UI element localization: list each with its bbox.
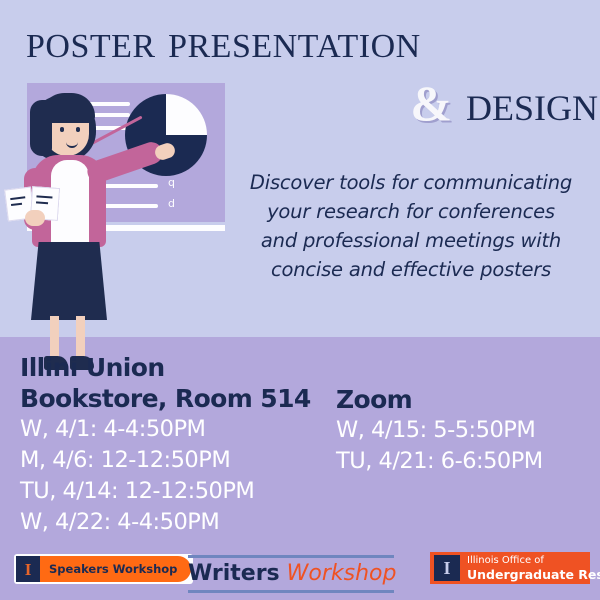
writers-word: Writers [188, 561, 280, 586]
venue-column-illini-union: Illini Union Bookstore, Room 514 W, 4/1:… [20, 352, 340, 538]
eyebrow-left [58, 120, 67, 122]
illinois-block-i-icon: I [16, 556, 40, 582]
writers-workshop-rule-bottom [188, 590, 394, 593]
venue-a-session-3: TU, 4/14: 12-12:50PM [20, 476, 340, 507]
block-i-glyph: I [25, 561, 32, 578]
venue-b-session-2: TU, 4/21: 6-6:50PM [336, 446, 600, 477]
venue-column-zoom: Zoom W, 4/15: 5-5:50PM TU, 4/21: 6-6:50P… [336, 384, 600, 477]
speakers-workshop-logo: I Speakers Workshop [14, 554, 193, 584]
speakers-workshop-label: Speakers Workshop [40, 556, 191, 582]
undergraduate-research-logo: I Illinois Office of Undergraduate Resea… [430, 552, 590, 584]
iour-line-2: Undergraduate Research [467, 569, 600, 581]
poster-canvas: Poster Presentation &Design Discover too… [0, 0, 600, 600]
block-i-glyph-2: I [443, 559, 450, 577]
eye-left [60, 127, 64, 132]
venue-a-session-1: W, 4/1: 4-4:50PM [20, 414, 340, 445]
undergraduate-research-label: Illinois Office of Undergraduate Researc… [467, 555, 600, 581]
eye-right [76, 127, 80, 132]
board-mark-icon-2: d [168, 198, 175, 209]
description-line-3: and professional meetings with [228, 226, 594, 255]
schedule-section: Illini Union Bookstore, Room 514 W, 4/1:… [0, 352, 600, 542]
workshop-word: Workshop [287, 561, 397, 586]
venue-b-session-1: W, 4/15: 5-5:50PM [336, 415, 600, 446]
description-text: Discover tools for communicating your re… [228, 168, 594, 284]
page-title-design-word: Design [466, 75, 598, 132]
hair-side [30, 100, 52, 156]
footer-logo-bar: I Speakers Workshop Writers Workshop I I… [0, 548, 600, 596]
eyebrow-right [74, 120, 83, 122]
venue-a-location-line-2: Bookstore, Room 514 [20, 383, 340, 414]
illinois-block-i-icon-2: I [434, 555, 460, 581]
venue-a-session-2: M, 4/6: 12-12:50PM [20, 445, 340, 476]
skirt [31, 242, 107, 320]
presenter-illustration: q d [0, 60, 232, 350]
board-mark-icon-1: q [168, 177, 175, 188]
description-line-2: your research for conferences [228, 197, 594, 226]
description-line-1: Discover tools for communicating [228, 168, 594, 197]
ampersand-glyph: & [410, 75, 452, 131]
venue-a-location-line-1: Illini Union [20, 352, 340, 383]
iour-line-1: Illinois Office of [467, 555, 600, 567]
writers-workshop-logo: Writers Workshop [188, 549, 394, 599]
description-line-4: concise and effective posters [228, 255, 594, 284]
venue-b-location-line-1: Zoom [336, 384, 600, 415]
venue-a-session-4: W, 4/22: 4-4:50PM [20, 507, 340, 538]
hand-left [25, 210, 45, 226]
page-title-line-2: &Design [250, 72, 598, 135]
writers-workshop-wordmark: Writers Workshop [188, 558, 394, 590]
